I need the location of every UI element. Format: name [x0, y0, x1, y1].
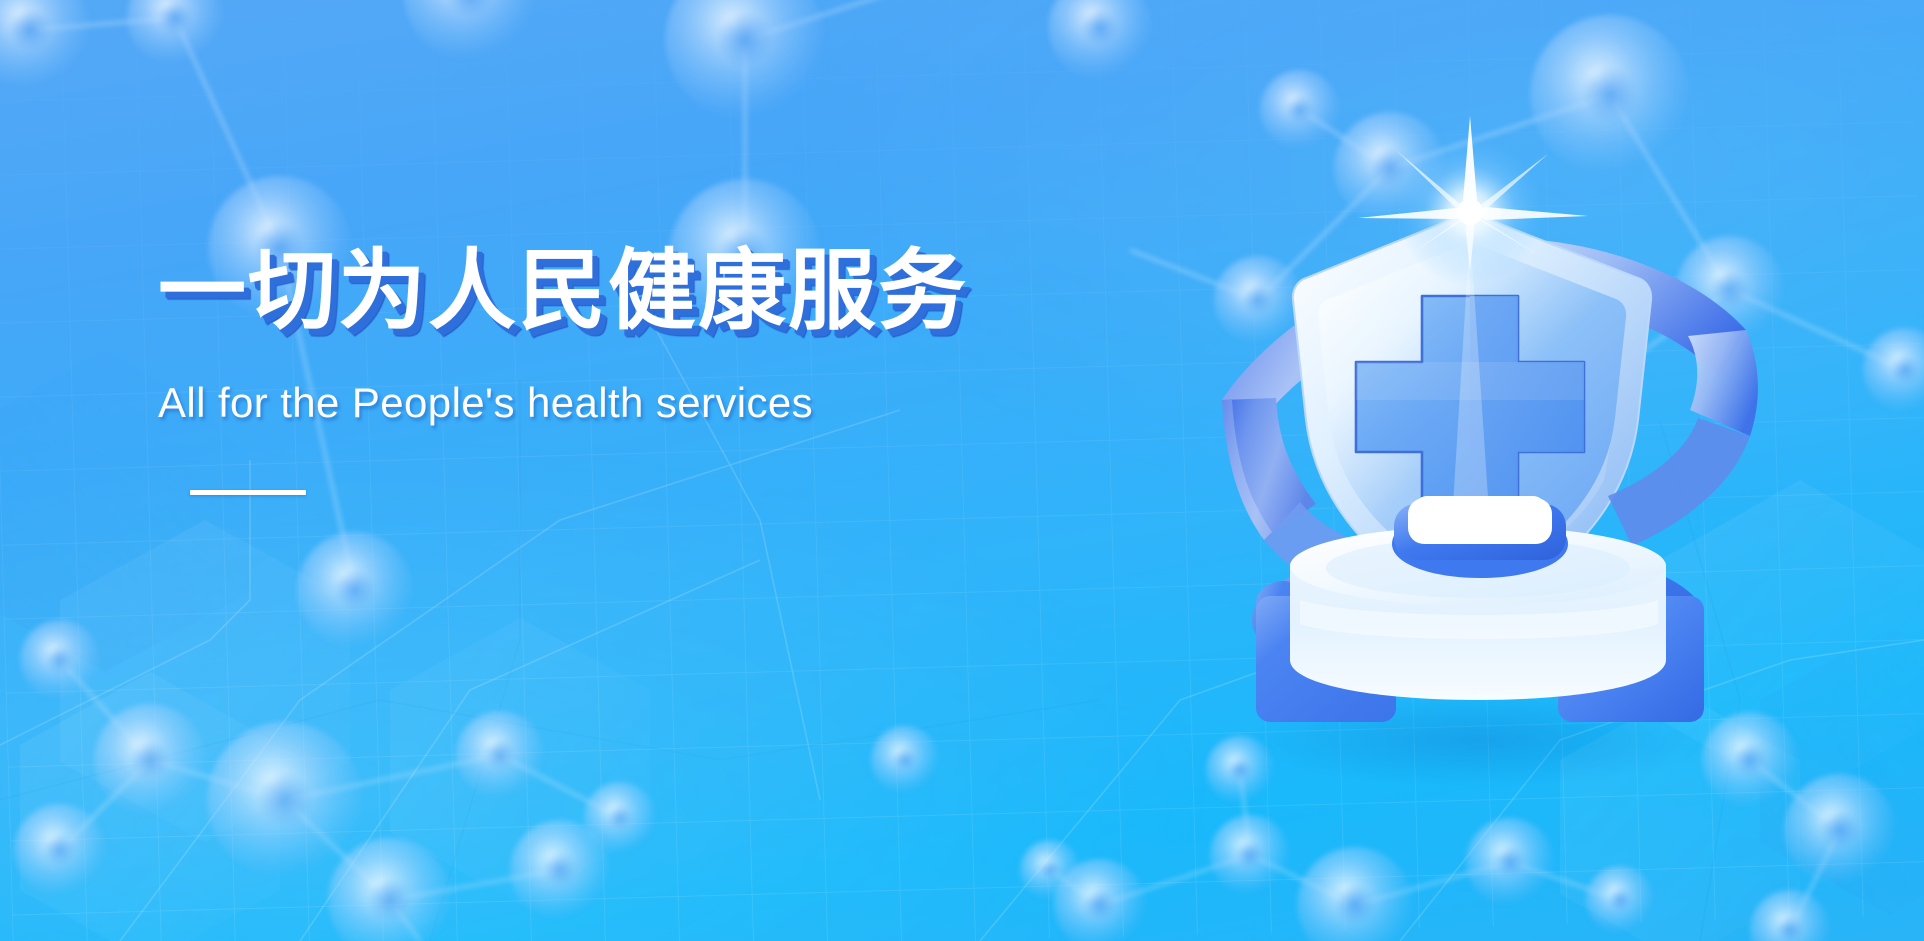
medical-shield-illustration [1160, 100, 1780, 800]
page-subtitle: All for the People's health services [158, 380, 978, 426]
banner-copy: 一切为人民健康服务 All for the People's health se… [158, 243, 978, 495]
accent-rule [190, 490, 306, 495]
shield-artwork [1160, 100, 1780, 800]
health-banner: 一切为人民健康服务 All for the People's health se… [0, 0, 1924, 941]
pedestal-button [1392, 496, 1568, 578]
page-title: 一切为人民健康服务 [158, 243, 978, 338]
